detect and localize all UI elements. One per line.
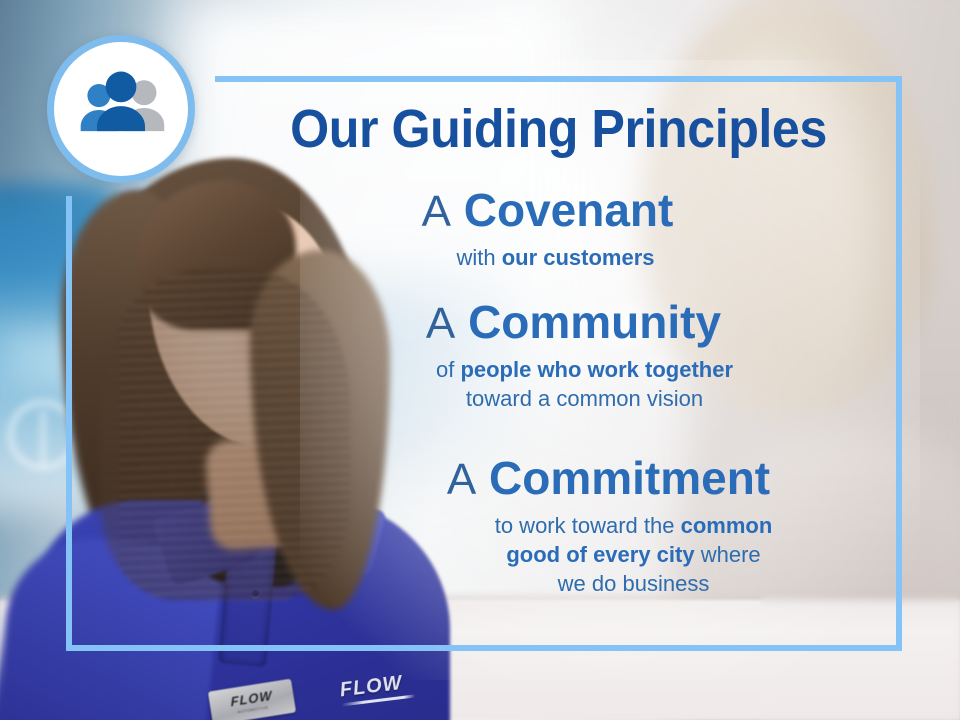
principle-article: A: [447, 455, 476, 504]
subtext-bold: good of every city: [506, 542, 694, 567]
principle-word: Community: [468, 296, 721, 348]
principle-heading: A Community: [215, 298, 902, 348]
principle-article: A: [422, 187, 451, 236]
principle-subtext: to work toward the common good of every …: [215, 511, 902, 598]
subtext-plain: of: [436, 357, 460, 382]
subtext-line: toward a common vision: [267, 384, 902, 413]
principle-word: Commitment: [489, 452, 770, 504]
principle-heading: A Commitment: [215, 454, 902, 504]
subtext-line: we do business: [365, 569, 902, 598]
poster-canvas: FLOW AUTOMOTIVE FLOW: [0, 0, 960, 720]
principle-block-covenant: A Covenant with our customers: [215, 186, 902, 272]
frame-border-left: [66, 196, 72, 651]
principle-subtext: of people who work together toward a com…: [215, 355, 902, 413]
principle-heading: A Covenant: [215, 186, 902, 236]
principle-word: Covenant: [464, 184, 674, 236]
principle-article: A: [426, 299, 455, 348]
people-group-icon: [73, 61, 169, 157]
subtext-line: of people who work together: [267, 355, 902, 384]
subtext-bold: our customers: [502, 245, 655, 270]
people-badge: [47, 35, 195, 183]
subtext-line: good of every city where: [365, 540, 902, 569]
subtext-bold: common: [681, 513, 773, 538]
principle-subtext: with our customers: [215, 243, 902, 272]
subtext-bold: people who work together: [460, 357, 733, 382]
subtext-plain: with: [456, 245, 501, 270]
principle-block-commitment: A Commitment to work toward the common g…: [215, 454, 902, 598]
subtext-line: to work toward the common: [365, 511, 902, 540]
principle-block-community: A Community of people who work together …: [215, 298, 902, 413]
subtext-plain: to work toward the: [495, 513, 681, 538]
page-title: Our Guiding Principles: [239, 102, 878, 156]
subtext-plain: where: [695, 542, 761, 567]
text-overlay: Our Guiding Principles A Covenant with o…: [215, 76, 902, 651]
